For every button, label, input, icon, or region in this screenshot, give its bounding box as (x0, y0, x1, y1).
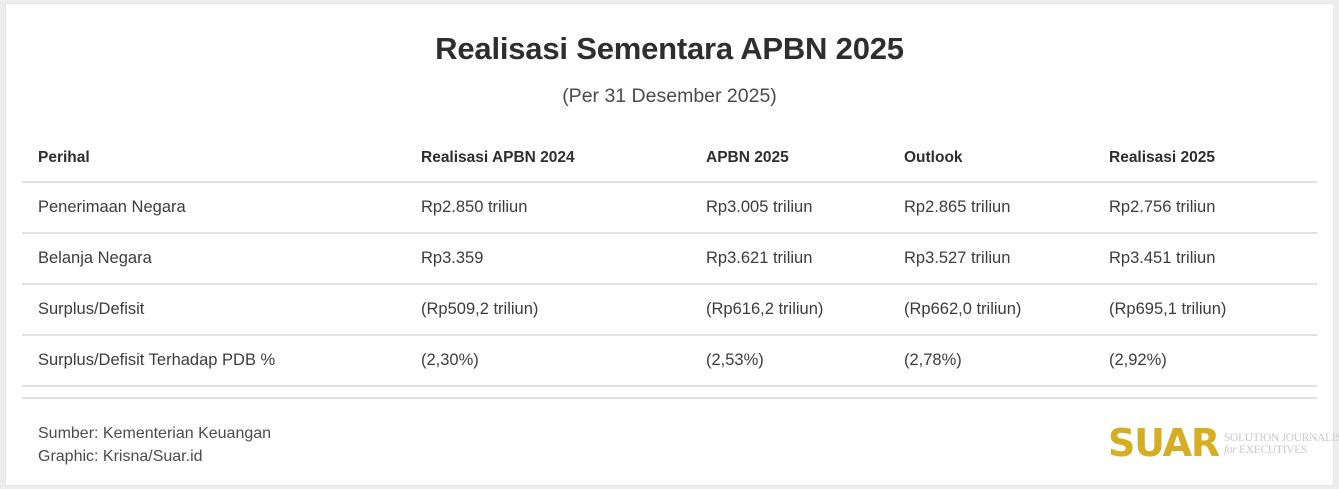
table-row: Penerimaan Negara Rp2.850 triliun Rp3.00… (22, 183, 1317, 234)
source-line: Sumber: Kementerian Keuangan (38, 422, 271, 445)
cell-apbn-2025: Rp3.005 triliun (706, 198, 904, 217)
suar-logo: SUAR SOLUTION JOURNALISM for EXECUTIVES (1108, 421, 1339, 465)
cell-realisasi-apbn-2024: (Rp509,2 triliun) (421, 300, 706, 319)
table-row: Surplus/Defisit Terhadap PDB % (2,30%) (… (22, 336, 1317, 387)
cell-realisasi-2025: Rp3.451 triliun (1109, 249, 1317, 268)
cell-outlook: Rp3.527 triliun (904, 249, 1109, 268)
cell-realisasi-apbn-2024: (2,30%) (421, 351, 706, 370)
cell-apbn-2025: (Rp616,2 triliun) (706, 300, 904, 319)
table-row: Surplus/Defisit (Rp509,2 triliun) (Rp616… (22, 285, 1317, 336)
tagline-line-2: for EXECUTIVES (1224, 444, 1339, 456)
tagline-executives-word: EXECUTIVES (1239, 444, 1307, 456)
cell-realisasi-2025: Rp2.756 triliun (1109, 198, 1317, 217)
cell-apbn-2025: Rp3.621 triliun (706, 249, 904, 268)
cell-apbn-2025: (2,53%) (706, 351, 904, 370)
source-credit: Sumber: Kementerian Keuangan Graphic: Kr… (38, 422, 271, 468)
cell-outlook: (Rp662,0 triliun) (904, 300, 1109, 319)
page-subtitle: (Per 31 Desember 2025) (6, 85, 1333, 108)
cell-perihal: Surplus/Defisit Terhadap PDB % (22, 351, 421, 370)
column-header-realisasi-2025: Realisasi 2025 (1109, 149, 1317, 167)
cell-perihal: Belanja Negara (22, 249, 421, 268)
column-header-perihal: Perihal (22, 149, 421, 167)
table-row: Belanja Negara Rp3.359 Rp3.621 triliun R… (22, 234, 1317, 285)
cell-outlook: (2,78%) (904, 351, 1109, 370)
table-header-row: Perihal Realisasi APBN 2024 APBN 2025 Ou… (22, 135, 1317, 183)
cell-perihal: Penerimaan Negara (22, 198, 421, 217)
infographic-card: Realisasi Sementara APBN 2025 (Per 31 De… (6, 4, 1333, 485)
cell-realisasi-2025: (Rp695,1 triliun) (1109, 300, 1317, 319)
cell-realisasi-apbn-2024: Rp3.359 (421, 249, 706, 268)
column-header-apbn-2025: APBN 2025 (706, 149, 904, 167)
tagline-line-1: SOLUTION JOURNALISM (1224, 432, 1339, 444)
suar-tagline: SOLUTION JOURNALISM for EXECUTIVES (1224, 432, 1339, 456)
column-header-outlook: Outlook (904, 149, 1109, 167)
cell-outlook: Rp2.865 triliun (904, 198, 1109, 217)
cell-realisasi-2025: (2,92%) (1109, 351, 1317, 370)
footer-divider (22, 397, 1317, 399)
tagline-for-word: for (1224, 444, 1237, 456)
budget-table: Perihal Realisasi APBN 2024 APBN 2025 Ou… (22, 135, 1317, 387)
cell-perihal: Surplus/Defisit (22, 300, 421, 319)
suar-wordmark: SUAR (1108, 424, 1219, 462)
page-title: Realisasi Sementara APBN 2025 (6, 31, 1333, 67)
graphic-credit-line: Graphic: Krisna/Suar.id (38, 445, 271, 468)
cell-realisasi-apbn-2024: Rp2.850 triliun (421, 198, 706, 217)
column-header-realisasi-apbn-2024: Realisasi APBN 2024 (421, 149, 706, 167)
